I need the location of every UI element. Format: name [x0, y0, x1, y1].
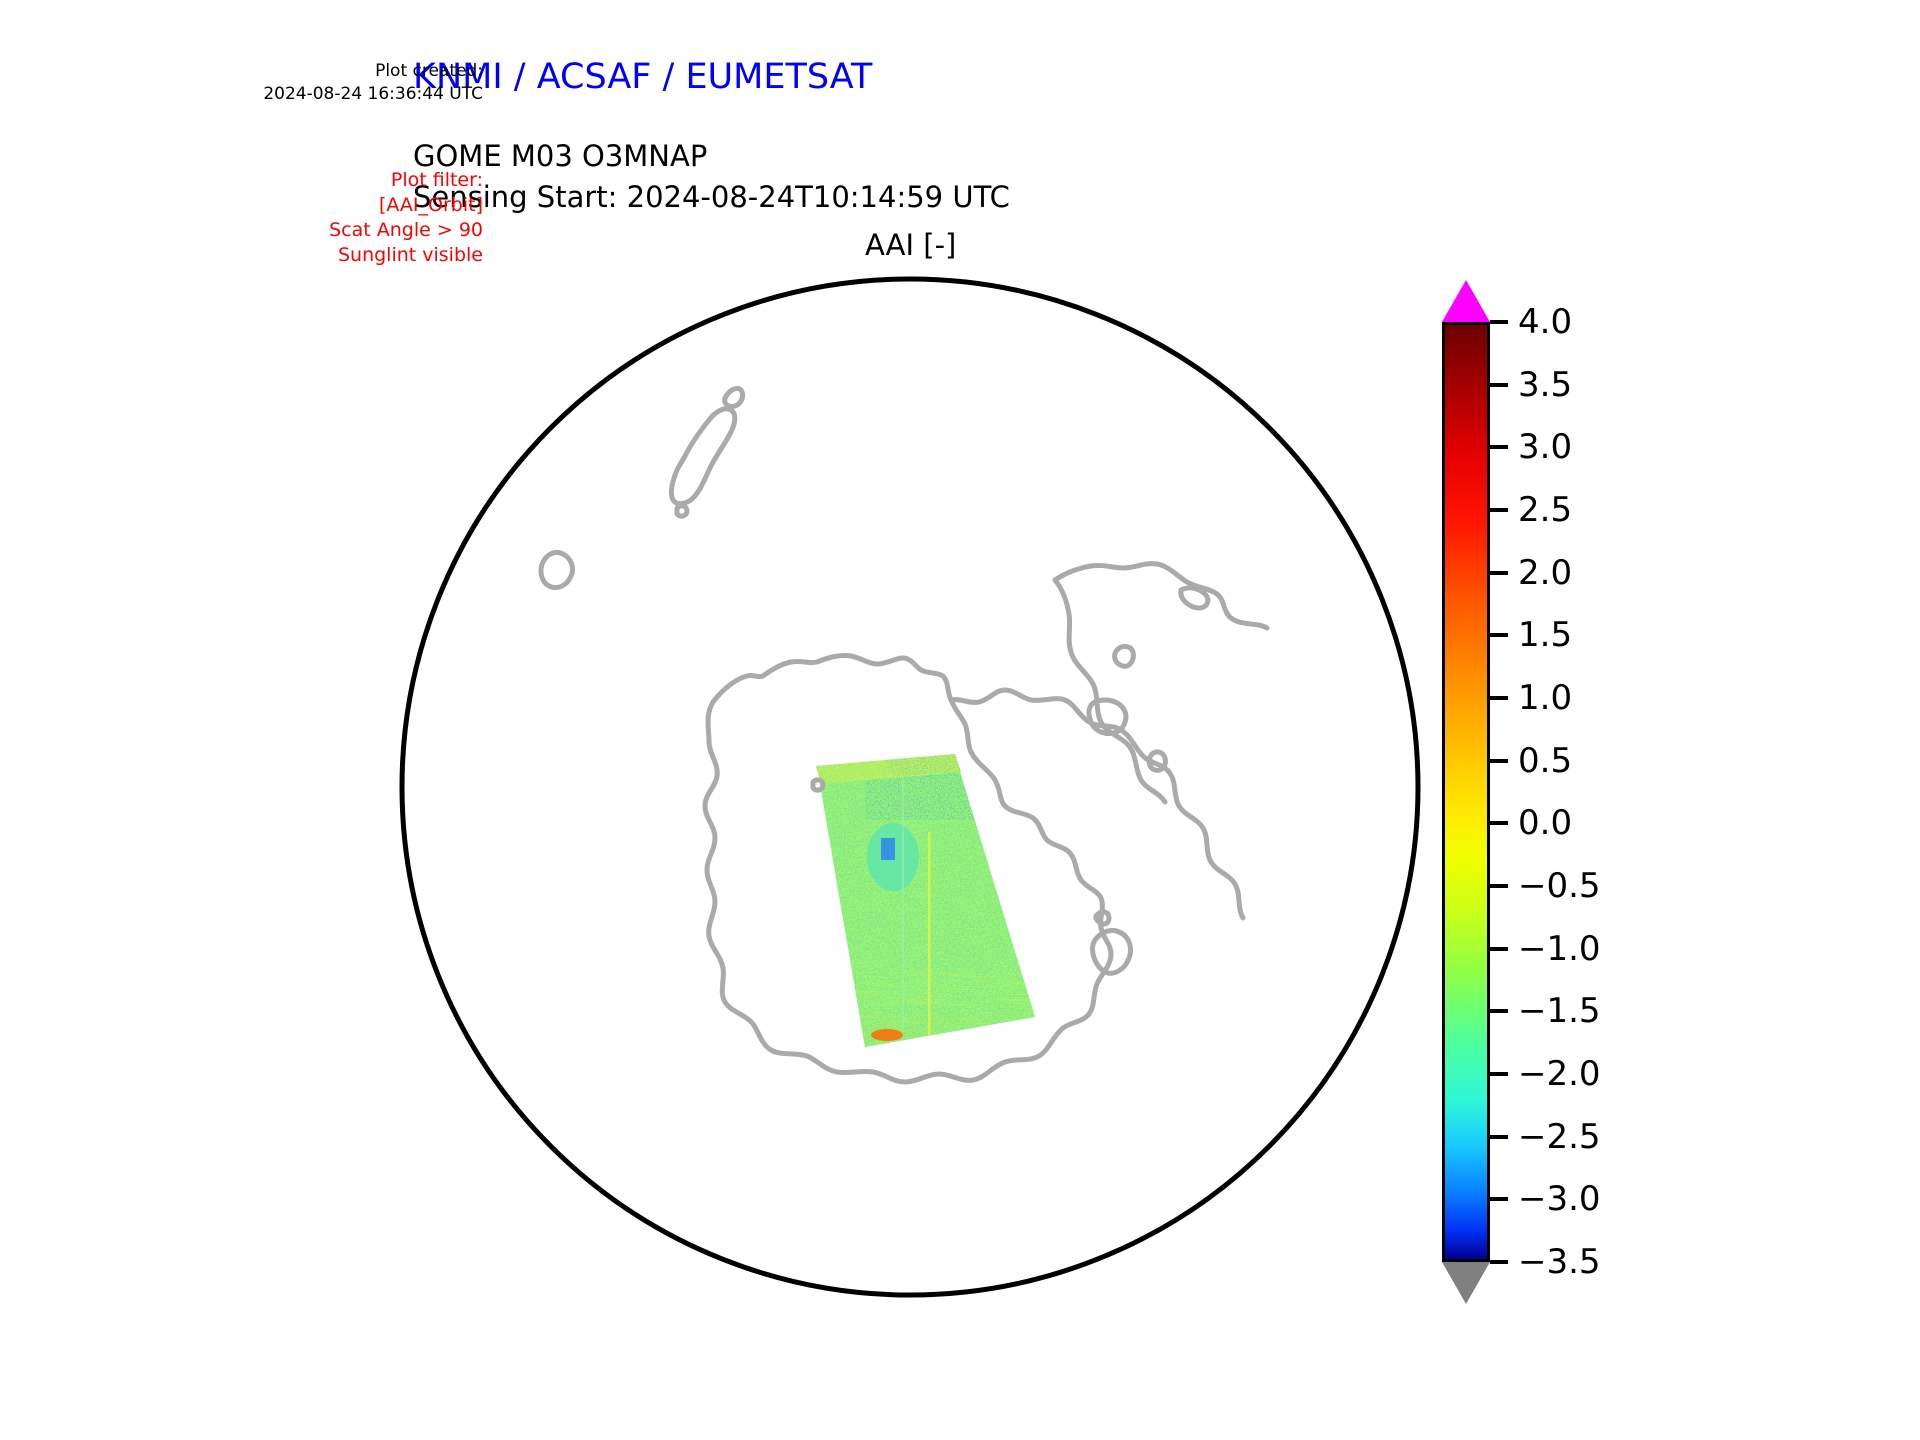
colorbar-tick-5 — [1490, 633, 1508, 637]
colorbar-tick-label-11: −1.5 — [1518, 994, 1601, 1028]
colorbar-tick-2 — [1490, 445, 1508, 449]
colorbar-tick-label-0: 4.0 — [1518, 305, 1572, 339]
plot-filter-line-3: Sunglint visible — [329, 243, 483, 268]
new-zealand-north-tip — [725, 388, 743, 406]
colorbar-tick-12 — [1490, 1072, 1508, 1076]
ross-island-dot — [813, 780, 823, 790]
plot-created-label: Plot created: — [263, 60, 483, 83]
colorbar-tick-1 — [1490, 383, 1508, 387]
falkland-islands — [1115, 646, 1134, 666]
stewart-island — [677, 506, 687, 516]
colorbar-tick-label-1: 3.5 — [1518, 368, 1572, 402]
colorbar-tick-6 — [1490, 696, 1508, 700]
colorbar-gradient — [1445, 325, 1487, 1259]
colorbar-gradient-frame — [1442, 322, 1490, 1262]
plot-variable-title: AAI [-] — [865, 228, 956, 262]
colorbar-tick-label-14: −3.0 — [1518, 1182, 1601, 1216]
plot-created-timestamp: 2024-08-24 16:36:44 UTC — [263, 83, 483, 106]
patagonia-channel — [1181, 588, 1208, 608]
colorbar-tick-label-5: 1.5 — [1518, 618, 1572, 652]
aai-data-swath — [795, 752, 1075, 1072]
plot-filter-line-1: [AAI_Orbit] — [329, 193, 483, 218]
south-america-east-coast — [1055, 580, 1165, 802]
antarctic-peninsula — [1121, 730, 1243, 918]
colorbar-tick-3 — [1490, 508, 1508, 512]
colorbar-tick-8 — [1490, 821, 1508, 825]
south-america-coastline — [1055, 564, 1267, 628]
colorbar-tick-label-9: −0.5 — [1518, 869, 1601, 903]
peninsula-islands — [1149, 752, 1165, 770]
colorbar-tick-label-13: −2.5 — [1518, 1120, 1601, 1154]
plot-created-block: Plot created: 2024-08-24 16:36:44 UTC — [263, 60, 483, 106]
colorbar-tick-15 — [1490, 1260, 1508, 1264]
sensing-start-label: Sensing Start: 2024-08-24T10:14:59 UTC — [413, 180, 1010, 214]
colorbar-over-arrow — [1442, 280, 1490, 322]
colorbar-tick-label-3: 2.5 — [1518, 493, 1572, 527]
colorbar-tick-0 — [1490, 320, 1508, 324]
colorbar-tick-label-2: 3.0 — [1518, 430, 1572, 464]
polar-map-panel — [395, 272, 1425, 1302]
polar-map-svg — [395, 272, 1425, 1302]
tasmania-coastline — [541, 552, 573, 587]
new-zealand-south-island — [671, 409, 734, 504]
colorbar-under-arrow — [1442, 1262, 1490, 1304]
colorbar: 4.03.53.02.52.01.51.00.50.0−0.5−1.0−1.5−… — [1430, 280, 1750, 1310]
colorbar-tick-label-8: 0.0 — [1518, 806, 1572, 840]
colorbar-tick-label-7: 0.5 — [1518, 744, 1572, 778]
colorbar-tick-14 — [1490, 1197, 1508, 1201]
plot-filter-line-0: Plot filter: — [329, 168, 483, 193]
colorbar-tick-10 — [1490, 947, 1508, 951]
colorbar-tick-4 — [1490, 571, 1508, 575]
colorbar-tick-label-10: −1.0 — [1518, 932, 1601, 966]
colorbar-tick-label-15: −3.5 — [1518, 1245, 1601, 1279]
colorbar-tick-13 — [1490, 1135, 1508, 1139]
plot-filter-line-2: Scat Angle > 90 — [329, 218, 483, 243]
colorbar-tick-11 — [1490, 1009, 1508, 1013]
colorbar-tick-label-12: −2.0 — [1518, 1057, 1601, 1091]
colorbar-tick-9 — [1490, 884, 1508, 888]
colorbar-tick-label-6: 1.0 — [1518, 681, 1572, 715]
colorbar-tick-label-4: 2.0 — [1518, 556, 1572, 590]
colorbar-tick-7 — [1490, 759, 1508, 763]
plot-filter-block: Plot filter: [AAI_Orbit] Scat Angle > 90… — [329, 168, 483, 268]
